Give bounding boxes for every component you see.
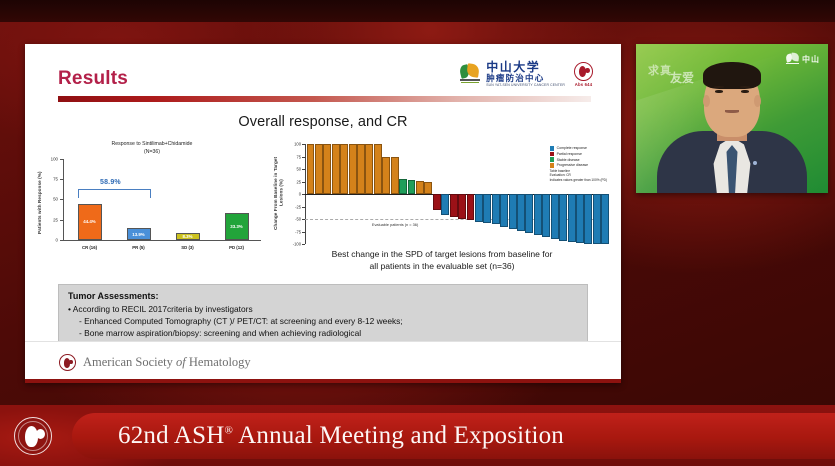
tumor-assessments-heading: Tumor Assessments: (68, 291, 578, 301)
banner-registered-mark: ® (224, 424, 233, 436)
waterfall-bar (433, 144, 441, 244)
waterfall-bar (534, 144, 542, 244)
bar-x-label: PR (5) (114, 245, 163, 250)
waterfall-y-tick (302, 144, 305, 145)
ash-footer-suffix: Hematology (189, 355, 251, 369)
banner-title-suffix: Annual Meeting and Exposition (233, 422, 564, 449)
ash-logo-ring (18, 421, 48, 451)
video-university-logo: 中山 (786, 53, 820, 66)
waterfall-y-tick-label: 100 (294, 142, 301, 147)
legend-swatch (550, 146, 555, 151)
waterfall-y-tick (302, 207, 305, 208)
legend-item: Stable disease (550, 157, 607, 162)
bar-value-label: 33.3% (230, 224, 242, 229)
waterfall-bar (458, 144, 466, 244)
legend-item: Complete response (550, 146, 607, 151)
bar-x-labels: CR (16)PR (5)SD (3)PD (12) (65, 245, 261, 250)
bar-cell: 13.9% (114, 159, 163, 240)
waterfall-bar (500, 144, 508, 244)
waterfall-bar (517, 144, 525, 244)
waterfall-bar (315, 144, 323, 244)
tumor-assessments-bullet: • According to RECIL 2017criteria by inv… (68, 304, 578, 314)
bar-x-axis (63, 240, 261, 241)
slide: Results 中山大学 肿瘤防治中心 SUN YAT-SEN UNIVERSI… (25, 44, 621, 383)
university-name-cn: 中山大学 (486, 61, 565, 73)
waterfall-plot-area: Change From Baseline in Target Lesions (… (271, 144, 613, 244)
waterfall-y-tick-label: -25 (295, 204, 301, 209)
bar-y-tick (60, 199, 64, 200)
waterfall-y-tick (302, 157, 305, 158)
waterfall-y-tick-label: -100 (293, 242, 301, 247)
syscc-leaf-icon (460, 64, 480, 85)
slide-subtitle: Overall response, and CR (25, 114, 621, 130)
speaker-video-panel[interactable]: 求真 友爱 中山 (636, 44, 828, 193)
waterfall-bar (424, 144, 432, 244)
bar-cell: 8.3% (163, 159, 212, 240)
bar-chart-title: Response to Sintilimab+Chidamide (N=36) (33, 141, 271, 156)
presenter-ear-right (754, 95, 761, 107)
bar: 13.9% (127, 228, 151, 239)
banner-title-prefix: 62nd ASH (118, 422, 224, 449)
video-logo-text: 中山 (802, 54, 820, 65)
waterfall-caption-line2: all patients in the evaluable set (n=36) (277, 261, 607, 273)
page-title: Results (58, 68, 128, 90)
bar-y-tick (60, 240, 64, 241)
bar-cell: 33.3% (212, 159, 261, 240)
waterfall-bar (307, 144, 315, 244)
charts-row: Response to Sintilimab+Chidamide (N=36) … (25, 141, 621, 272)
waterfall-bar (391, 144, 399, 244)
waterfall-ylabel: Change From Baseline in Target Lesions (… (273, 148, 283, 238)
presenter-brow-right (740, 86, 750, 88)
bar-y-tick-label: 25 (53, 217, 58, 222)
waterfall-caption-line1: Best change in the SPD of target lesions… (277, 249, 607, 261)
ash-blood-cell-icon (14, 417, 52, 455)
abstract-number: Abs 644 (574, 82, 593, 87)
waterfall-bar (509, 144, 517, 244)
presenter-eye-right (741, 90, 749, 93)
waterfall-bar (450, 144, 458, 244)
bar-chart-title-line2: (N=36) (33, 149, 271, 157)
legend-label: Stable disease (557, 158, 580, 162)
waterfall-legend: Complete responsePartial responseStable … (550, 146, 607, 182)
presenter-ear-left (703, 95, 710, 107)
bar-plot: 1007550250 44.4%13.9%8.3%33.3% CR (16)PR… (63, 159, 261, 253)
bar: 44.4% (78, 204, 102, 240)
waterfall-bar (467, 144, 475, 244)
legend-note: Indicates values greater than 100% (PD) (550, 178, 607, 182)
presenter-mouth (725, 110, 739, 113)
tumor-assessments-sub1: - Enhanced Computed Tomography (CT )/ PE… (68, 316, 578, 326)
orr-bracket (78, 189, 151, 198)
legend-swatch (550, 157, 555, 162)
waterfall-y-tick-label: 25 (296, 179, 301, 184)
bar-y-tick (60, 220, 64, 221)
university-name-en: SUN YAT-SEN UNIVERSITY CANCER CENTER (486, 84, 565, 87)
legend-item: Progressive disease (550, 163, 607, 168)
tumor-assessments-box: Tumor Assessments: • According to RECIL … (58, 284, 588, 346)
conference-banner: 62nd ASH® Annual Meeting and Exposition (0, 405, 835, 466)
waterfall-y-tick-label: 50 (296, 167, 301, 172)
bar-value-label: 44.4% (83, 219, 95, 224)
ash-footer-text: American Society of Hematology (83, 355, 251, 370)
waterfall-plot: 1007550250-25-50-75-100 Evaluable patien… (305, 144, 609, 244)
bar: 33.3% (225, 213, 249, 240)
waterfall-bar (323, 144, 331, 244)
orr-value: 58.9% (100, 179, 121, 186)
bar-y-tick-label: 100 (51, 157, 58, 162)
legend-item: Partial response (550, 152, 607, 157)
slide-footer: American Society of Hematology (25, 341, 621, 383)
waterfall-bar (483, 144, 491, 244)
waterfall-bar (332, 144, 340, 244)
presenter-hair (703, 62, 761, 89)
bar-value-label: 13.9% (132, 232, 144, 237)
bar-y-tick-label: 0 (56, 237, 58, 242)
waterfall-y-tick-label: -75 (295, 229, 301, 234)
waterfall-bar (475, 144, 483, 244)
ash-blood-cell-icon (59, 354, 76, 371)
bar-y-tick-label: 50 (53, 197, 58, 202)
bar-x-label: PD (12) (212, 245, 261, 250)
slide-header: Results 中山大学 肿瘤防治中心 SUN YAT-SEN UNIVERSI… (25, 44, 621, 106)
waterfall-chart: Change From Baseline in Target Lesions (… (271, 141, 613, 272)
university-logo-text: 中山大学 肿瘤防治中心 SUN YAT-SEN UNIVERSITY CANCE… (486, 61, 565, 87)
legend-label: Complete response (557, 146, 587, 150)
waterfall-bar (492, 144, 500, 244)
waterfall-ylabel-line1: Change From Baseline (273, 178, 278, 230)
bar-series: 44.4%13.9%8.3%33.3% (65, 159, 261, 240)
bar-y-tick (60, 159, 64, 160)
bar-x-label: SD (3) (163, 245, 212, 250)
waterfall-y-tick-label: 75 (296, 154, 301, 159)
title-divider (58, 96, 591, 102)
ash-footer-italic: of (176, 355, 189, 369)
legend-label: Progressive disease (557, 163, 589, 167)
waterfall-bar (441, 144, 449, 244)
ash-footer-prefix: American Society (83, 355, 176, 369)
waterfall-bar (340, 144, 348, 244)
presenter-brow-left (714, 86, 724, 88)
waterfall-bar (416, 144, 424, 244)
slide-logos: 中山大学 肿瘤防治中心 SUN YAT-SEN UNIVERSITY CANCE… (460, 61, 593, 87)
waterfall-bar (357, 144, 365, 244)
presentation-stage: Results 中山大学 肿瘤防治中心 SUN YAT-SEN UNIVERSI… (0, 0, 835, 466)
presenter-lapel-pin (753, 161, 757, 165)
waterfall-bar (365, 144, 373, 244)
legend-note: Evaluation: CR (550, 173, 607, 177)
waterfall-bar (399, 144, 407, 244)
bar-y-tick-label: 75 (53, 177, 58, 182)
bar-chart-title-line1: Response to Sintilimab+Chidamide (33, 141, 271, 149)
bar-value-label: 8.3% (182, 234, 192, 239)
legend-note: Table baseline (550, 169, 607, 173)
waterfall-bar (349, 144, 357, 244)
tumor-assessments-sub2: - Bone marrow aspiration/biopsy: screeni… (68, 328, 578, 338)
bar: 8.3% (176, 233, 200, 240)
bar-cell: 44.4% (65, 159, 114, 240)
waterfall-y-tick-label: 0 (299, 192, 301, 197)
waterfall-bar (374, 144, 382, 244)
ash-blood-cell-icon (574, 62, 593, 81)
waterfall-bar (382, 144, 390, 244)
bar-chart-ylabel: Patients with Response (%) (37, 165, 45, 241)
waterfall-y-tick (302, 232, 305, 233)
response-bar-chart: Response to Sintilimab+Chidamide (N=36) … (33, 141, 271, 272)
syscc-leaf-icon (786, 53, 799, 66)
waterfall-y-tick-label: -50 (295, 217, 301, 222)
waterfall-y-tick (302, 169, 305, 170)
abstract-badge: Abs 644 (574, 62, 593, 87)
waterfall-y-tick (302, 182, 305, 183)
legend-swatch (550, 152, 555, 157)
waterfall-y-tick (302, 219, 305, 220)
bar-x-label: CR (16) (65, 245, 114, 250)
bar-y-tick (60, 179, 64, 180)
presenter-figure (657, 75, 807, 193)
cancer-center-cn: 肿瘤防治中心 (486, 74, 565, 83)
banner-title: 62nd ASH® Annual Meeting and Exposition (118, 422, 564, 450)
bar-plot-area: Patients with Response (%) 1007550250 44… (33, 159, 271, 253)
waterfall-bar (408, 144, 416, 244)
legend-label: Partial response (557, 152, 582, 156)
waterfall-caption: Best change in the SPD of target lesions… (271, 249, 613, 272)
waterfall-y-tick (302, 244, 305, 245)
evaluable-patients-note: Evaluable patients (n = 36) (372, 222, 418, 227)
presenter-eye-left (715, 90, 723, 93)
waterfall-y-tick (302, 194, 305, 195)
waterfall-bar (525, 144, 533, 244)
legend-swatch (550, 163, 555, 168)
